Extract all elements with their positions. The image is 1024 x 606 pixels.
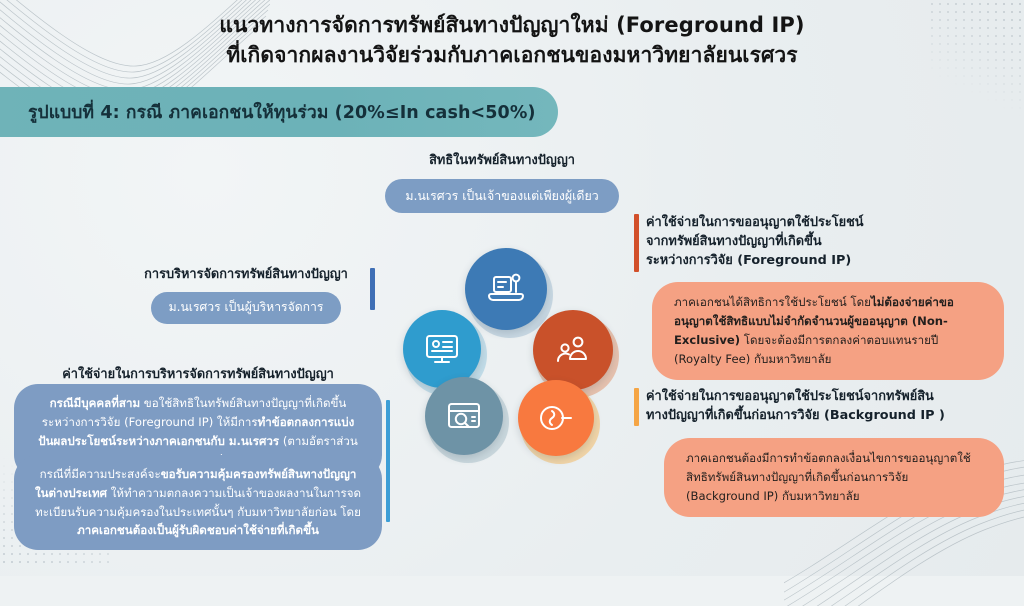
fg-ip-seg1: ภาคเอกชนได้สิทธิการใช้ประโยชน์ โดย bbox=[674, 295, 871, 309]
page-title: แนวทางการจัดการทรัพย์สินทางปัญญาใหม่ (Fo… bbox=[0, 10, 1024, 71]
monitor-profile-icon bbox=[424, 333, 460, 365]
browser-search-icon bbox=[446, 400, 482, 432]
ip-rights-heading: สิทธิในทรัพย์สินทางปัญญา bbox=[373, 152, 631, 171]
foreground-ip-heading-line-2: จากทรัพย์สินทางปัญญาที่เกิดขึ้น bbox=[646, 233, 1008, 252]
management-pill: ม.นเรศวร เป็นผู้บริหารจัดการ bbox=[151, 292, 342, 324]
circle-laptop-presentation[interactable] bbox=[465, 248, 547, 330]
circle-people-group[interactable] bbox=[533, 310, 613, 390]
circle-clock-search[interactable] bbox=[518, 380, 594, 456]
bg-ip-text: ภาคเอกชนต้องมีการทำข้อตกลงเงื่อนไขการขออ… bbox=[686, 451, 971, 503]
background-ip-box: ภาคเอกชนต้องมีการทำข้อตกลงเงื่อนไขการขออ… bbox=[664, 438, 1004, 517]
background-ip-heading-line-2: ทางปัญญาที่เกิดขึ้นก่อนการวิจัย (Backgro… bbox=[646, 407, 1008, 426]
management-heading: การบริหารจัดการทรัพย์สินทางปัญญา bbox=[128, 266, 364, 285]
circle-browser-search[interactable] bbox=[425, 377, 503, 455]
ip-rights-group: สิทธิในทรัพย์สินทางปัญญา ม.นเรศวร เป็นเจ… bbox=[373, 152, 631, 213]
foreground-ip-box: ภาคเอกชนได้สิทธิการใช้ประโยชน์ โดยไม่ต้อ… bbox=[652, 282, 1004, 380]
cost-box-1-seg1: กรณีมีบุคคลที่สาม bbox=[50, 396, 141, 410]
management-group: การบริหารจัดการทรัพย์สินทางปัญญา ม.นเรศว… bbox=[128, 266, 364, 324]
foreground-ip-heading-line-3: ระหว่างการวิจัย (Foreground IP) bbox=[646, 252, 1008, 271]
ip-rights-pill: ม.นเรศวร เป็นเจ้าของแต่เพียงผู้เดียว bbox=[385, 179, 618, 213]
circle-monitor-profile[interactable] bbox=[403, 310, 481, 388]
foreground-ip-heading-line-1: ค่าใช้จ่ายในการขออนุญาตใช้ประโยชน์ bbox=[646, 214, 1008, 233]
foreground-ip-heading: ค่าใช้จ่ายในการขออนุญาตใช้ประโยชน์ จากทร… bbox=[646, 214, 1008, 271]
cost-management-box-2: กรณีที่มีความประสงค์จะขอรับความคุ้มครองท… bbox=[14, 455, 382, 550]
subtitle-banner-label: รูปแบบที่ 4: กรณี ภาคเอกชนให้ทุนร่วม (20… bbox=[28, 98, 536, 126]
management-accent-bar bbox=[370, 268, 375, 310]
circle-cluster bbox=[385, 225, 635, 475]
slide-canvas: แนวทางการจัดการทรัพย์สินทางปัญญาใหม่ (Fo… bbox=[0, 0, 1024, 576]
background-ip-heading-line-1: ค่าใช้จ่ายในการขออนุญาตใช้ประโยชน์จากทรั… bbox=[646, 388, 1008, 407]
cost-box-2-seg1: กรณีที่มีความประสงค์จะ bbox=[40, 467, 161, 481]
subtitle-banner: รูปแบบที่ 4: กรณี ภาคเอกชนให้ทุนร่วม (20… bbox=[0, 87, 558, 137]
people-group-icon bbox=[555, 334, 591, 366]
background-ip-heading: ค่าใช้จ่ายในการขออนุญาตใช้ประโยชน์จากทรั… bbox=[646, 388, 1008, 426]
laptop-presentation-icon bbox=[487, 272, 525, 306]
cost-management-heading: ค่าใช้จ่ายในการบริหารจัดการทรัพย์สินทางป… bbox=[14, 366, 382, 385]
title-line-1: แนวทางการจัดการทรัพย์สินทางปัญญาใหม่ (Fo… bbox=[0, 10, 1024, 40]
cost-box-2-seg4: ภาคเอกชนต้องเป็นผู้รับผิดชอบค่าใช้จ่ายที… bbox=[77, 523, 319, 537]
title-line-2: ที่เกิดจากผลงานวิจัยร่วมกับภาคเอกชนของมห… bbox=[0, 40, 1024, 70]
clock-search-icon bbox=[538, 403, 574, 433]
